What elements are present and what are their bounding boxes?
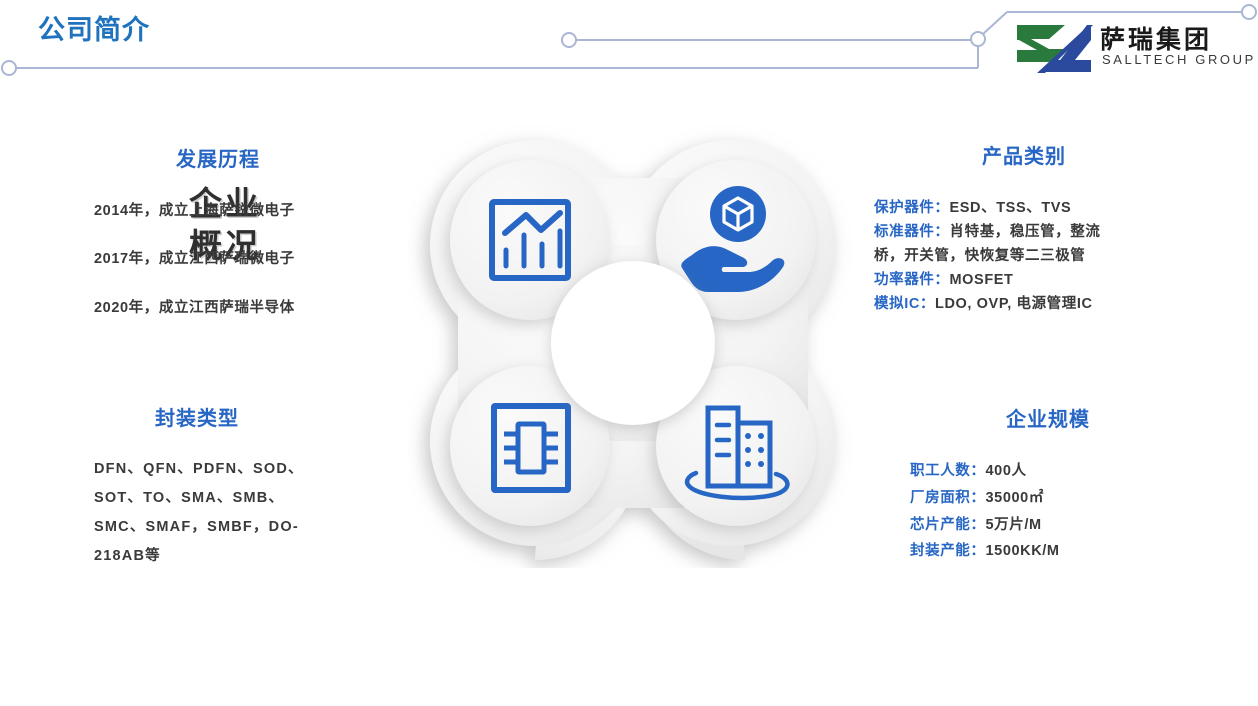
scale-row: 芯片产能：5万片/M xyxy=(910,512,1194,539)
product-value: LDO, OVP, 电源管理IC xyxy=(935,296,1093,312)
block-package-types: 封装类型 DFN、QFN、PDFN、SOD、 SOT、TO、SMA、SMB、 S… xyxy=(72,402,372,571)
history-line: 2020年，成立江西萨瑞半导体 xyxy=(94,297,372,319)
product-label: 功率器件： xyxy=(874,272,950,288)
product-row: 标准器件：肖特基，稳压管，整流 xyxy=(874,221,1204,245)
product-label: 模拟IC： xyxy=(874,296,935,312)
product-label: 保护器件： xyxy=(874,200,950,216)
product-value: MOSFET xyxy=(950,272,1014,288)
logo-name-cn: 萨瑞集团 xyxy=(1100,20,1212,56)
scale-value: 5万片/M xyxy=(986,517,1042,533)
block-product-categories: 产品类别 保护器件：ESD、TSS、TVS 标准器件：肖特基，稳压管，整流 桥，… xyxy=(874,140,1204,317)
scale-value: 1500KK/M xyxy=(986,543,1060,559)
scale-rows: 职工人数：400人 厂房面积：35000㎡ 芯片产能：5万片/M 封装产能：15… xyxy=(910,458,1194,565)
product-row: 功率器件：MOSFET xyxy=(874,269,1204,293)
scale-row: 厂房面积：35000㎡ xyxy=(910,485,1194,512)
product-row: 保护器件：ESD、TSS、TVS xyxy=(874,197,1204,221)
scale-label: 职工人数： xyxy=(910,463,986,479)
product-value: 桥，开关管，快恢复等二三极管 xyxy=(874,248,1085,264)
scale-label: 芯片产能： xyxy=(910,517,986,533)
history-lines: 2014年，成立上海萨锐微电子 2017年，成立江西萨瑞微电子 2020年，成立… xyxy=(94,200,372,319)
package-line: DFN、QFN、PDFN、SOD、 xyxy=(94,455,372,484)
package-line: SOT、TO、SMA、SMB、 xyxy=(94,484,372,513)
history-line: 2017年，成立江西萨瑞微电子 xyxy=(94,248,372,270)
scale-value: 35000㎡ xyxy=(986,490,1044,506)
package-line: 218AB等 xyxy=(94,542,372,571)
product-rows: 保护器件：ESD、TSS、TVS 标准器件：肖特基，稳压管，整流 桥，开关管，快… xyxy=(874,197,1204,317)
product-value: ESD、TSS、TVS xyxy=(950,200,1072,216)
block-development-history: 发展历程 2014年，成立上海萨锐微电子 2017年，成立江西萨瑞微电子 202… xyxy=(72,143,372,319)
package-line: SMC、SMAF，SMBF，DO- xyxy=(94,513,372,542)
center-disc xyxy=(551,261,715,425)
page-title: 公司简介 xyxy=(38,8,150,47)
salltech-logo-mark xyxy=(1015,22,1093,76)
scale-label: 封装产能： xyxy=(910,543,986,559)
scale-row: 封装产能：1500KK/M xyxy=(910,538,1194,565)
product-row: 桥，开关管，快恢复等二三极管 xyxy=(874,245,1204,269)
company-logo: 萨瑞集团 SALLTECH GROUP xyxy=(1012,18,1250,80)
block-enterprise-scale: 企业规模 职工人数：400人 厂房面积：35000㎡ 芯片产能：5万片/M 封装… xyxy=(874,403,1194,565)
product-value: 肖特基，稳压管，整流 xyxy=(950,224,1101,240)
central-overview-graphic xyxy=(408,118,858,568)
slide-root: 公司简介 萨瑞集团 SALLTECH GROUP xyxy=(0,0,1258,706)
product-row: 模拟IC：LDO, OVP, 电源管理IC xyxy=(874,293,1204,317)
product-label: 标准器件： xyxy=(874,224,950,240)
scale-label: 厂房面积： xyxy=(910,490,986,506)
scale-row: 职工人数：400人 xyxy=(910,458,1194,485)
scale-value: 400人 xyxy=(986,463,1027,479)
block-title-package: 封装类型 xyxy=(22,402,372,431)
block-title-history: 发展历程 xyxy=(64,143,372,172)
logo-name-en: SALLTECH GROUP xyxy=(1102,52,1256,67)
history-line: 2014年，成立上海萨锐微电子 xyxy=(94,200,372,222)
block-title-scale: 企业规模 xyxy=(902,403,1194,432)
package-lines: DFN、QFN、PDFN、SOD、 SOT、TO、SMA、SMB、 SMC、SM… xyxy=(94,455,372,571)
block-title-products: 产品类别 xyxy=(844,140,1204,169)
